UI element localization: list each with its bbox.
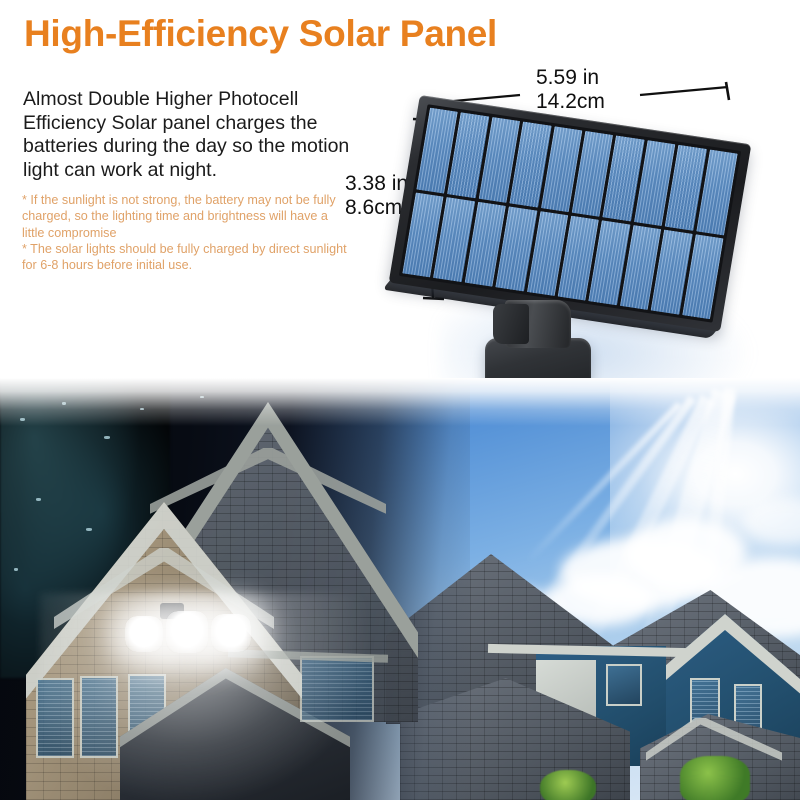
lamp-head-left xyxy=(125,616,163,652)
foliage-speck xyxy=(104,436,110,439)
panel-cell-grid xyxy=(399,104,741,322)
product-image-solar-panel xyxy=(420,95,780,395)
top-info-panel: High-Efficiency Solar Panel Almost Doubl… xyxy=(0,0,800,400)
lamp-head-center xyxy=(166,611,208,653)
window xyxy=(606,664,642,706)
bracket-hinge xyxy=(493,304,529,344)
page-title: High-Efficiency Solar Panel xyxy=(24,13,497,55)
foliage-speck xyxy=(36,498,41,501)
dimension-width-inches: 5.59 in xyxy=(536,66,599,90)
product-infographic-page: High-Efficiency Solar Panel Almost Doubl… xyxy=(0,0,800,800)
foliage-speck xyxy=(86,528,92,531)
dimension-height-cm: 8.6cm xyxy=(345,196,402,220)
shrub xyxy=(680,756,750,800)
foliage-speck xyxy=(14,568,18,571)
photo-scene xyxy=(0,378,800,800)
shrub xyxy=(540,770,596,800)
description-body: Almost Double Higher Photocell Efficienc… xyxy=(23,88,363,182)
disclaimer-note-1: * If the sunlight is not strong, the bat… xyxy=(22,192,352,241)
dimension-height-inches: 3.38 in xyxy=(345,172,408,196)
disclaimer-note-2: * The solar lights should be fully charg… xyxy=(22,241,352,274)
lifestyle-photo: Lighting at night 15 Feet Extension Cord… xyxy=(0,378,800,800)
disclaimer-notes: * If the sunlight is not strong, the bat… xyxy=(22,192,352,273)
lamp-head-right xyxy=(211,614,251,652)
photo-top-fade xyxy=(0,378,800,426)
